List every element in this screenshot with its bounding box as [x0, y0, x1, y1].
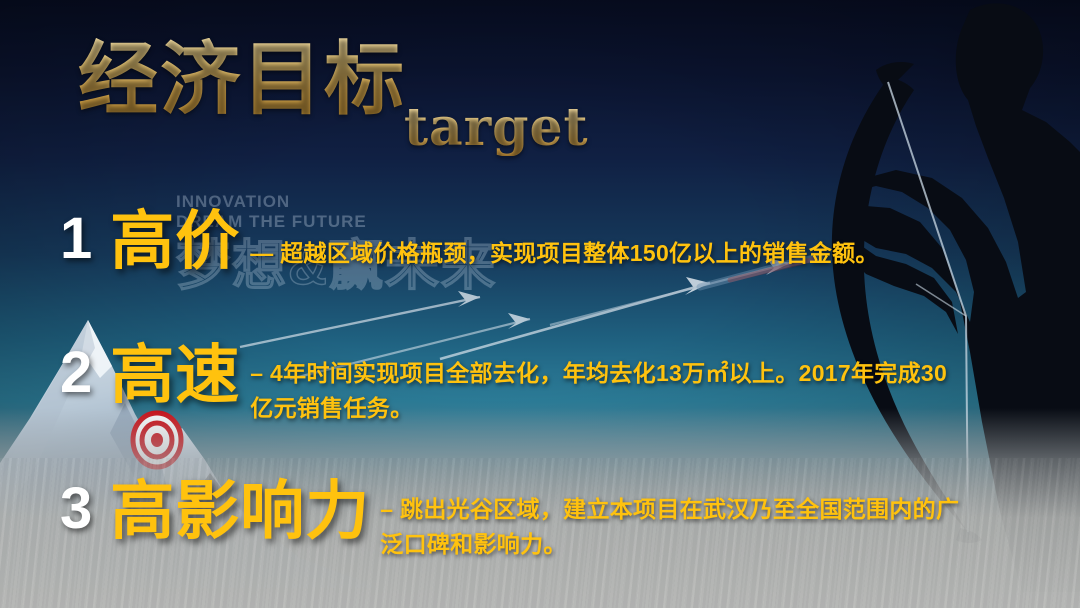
- bullet-description-1: — 超越区域价格瓶颈，实现项目整体150亿以上的销售金额。: [250, 206, 878, 271]
- bullet-keyword-3: 高影响力: [110, 476, 370, 546]
- bullet-number-3: 3: [60, 476, 92, 542]
- bullet-number-1: 1: [60, 206, 92, 272]
- bullet-row-3: 3 高影响力 – 跳出光谷区域，建立本项目在武汉乃至全国范围内的广泛口碑和影响力…: [60, 476, 960, 562]
- bullet-row-2: 2 高速 – 4年时间实现项目全部去化，年均去化13万㎡以上。2017年完成30…: [60, 340, 950, 426]
- bullet-keyword-1: 高价: [110, 206, 240, 276]
- bullet-number-2: 2: [60, 340, 92, 406]
- bullet-row-1: 1 高价 — 超越区域价格瓶颈，实现项目整体150亿以上的销售金额。: [60, 206, 879, 276]
- bullet-list: 1 高价 — 超越区域价格瓶颈，实现项目整体150亿以上的销售金额。 2 高速 …: [0, 0, 1080, 608]
- bullet-keyword-2: 高速: [110, 340, 240, 410]
- presentation-slide: INNOVATION DREAM THE FUTURE 梦想&赢未来 经济目标 …: [0, 0, 1080, 608]
- bullet-description-2: – 4年时间实现项目全部去化，年均去化13万㎡以上。2017年完成30亿元销售任…: [250, 340, 950, 426]
- bullet-description-3: – 跳出光谷区域，建立本项目在武汉乃至全国范围内的广泛口碑和影响力。: [380, 476, 960, 562]
